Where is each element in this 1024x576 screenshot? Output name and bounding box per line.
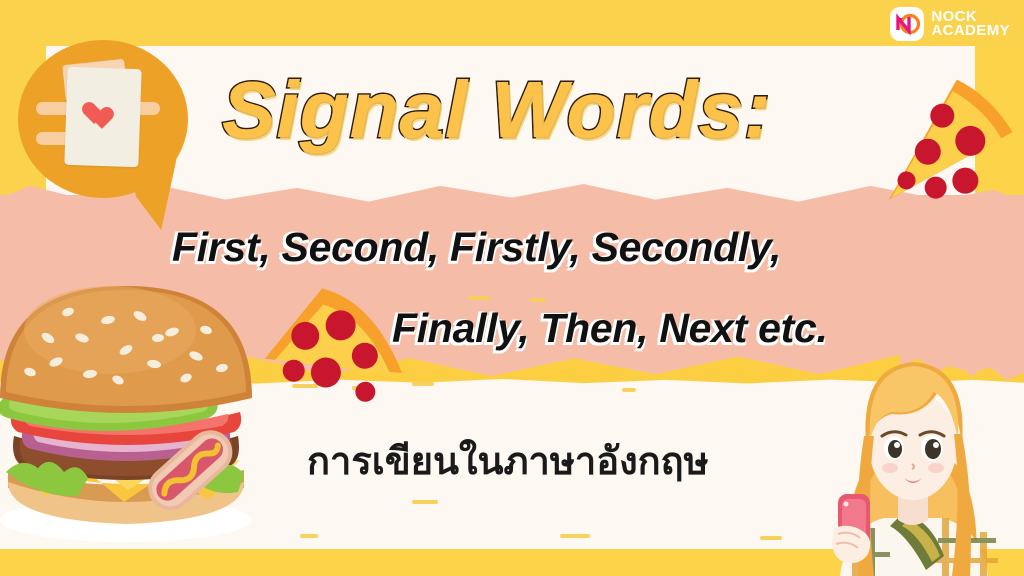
heart-icon (92, 98, 118, 122)
page-title-fill: Signal Words: (222, 60, 942, 160)
confetti-fleck (412, 500, 438, 504)
confetti-fleck (530, 298, 546, 302)
confetti-fleck (760, 536, 782, 540)
brand-name-line-2: ACADEMY (931, 24, 1010, 38)
thai-caption: การเขียนในภาษาอังกฤษ (307, 430, 709, 491)
confetti-fleck (468, 296, 490, 300)
girl-character-icon (812, 352, 1018, 576)
subtitle-line-1: First, Second, Firstly, Secondly, (172, 224, 781, 271)
brand-name: NOCK ACADEMY (931, 10, 1010, 38)
confetti-fleck (300, 534, 318, 538)
confetti-fleck (622, 388, 636, 392)
confetti-fleck (560, 534, 590, 538)
nock-academy-logo[interactable]: NOCK ACADEMY (890, 6, 1010, 42)
pizza-slice-icon (254, 277, 410, 413)
banner-canvas: Signal Words: Signal Words: First, Secon… (0, 0, 1024, 576)
nock-n-monogram-icon (890, 7, 924, 41)
hotdog-icon (138, 418, 244, 524)
confetti-fleck (412, 382, 434, 386)
subtitle-line-2: Finally, Then, Next etc. (392, 305, 828, 352)
speech-bubble-icon (18, 40, 188, 202)
